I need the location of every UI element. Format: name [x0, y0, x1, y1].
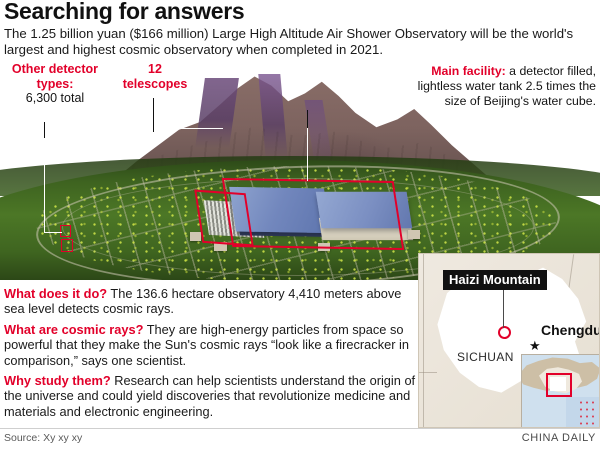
brand-credit: CHINA DAILY — [522, 432, 596, 444]
qa-block-1: What does it do? The 136.6 hectare obser… — [4, 286, 416, 317]
callout-other-detectors-label: Other detector types: — [12, 62, 98, 91]
infographic-page: Searching for answers The 1.25 billion y… — [0, 0, 600, 449]
leader-stub-detectors — [44, 122, 45, 138]
callout-telescopes-count: 12 — [148, 62, 162, 76]
source-credit: Source: Xy xy xy — [4, 432, 82, 444]
qa-question-2: What are cosmic rays? — [4, 322, 143, 337]
leader-line-telescopes-horizontal — [153, 128, 223, 129]
locator-dotted-line-icon — [578, 399, 598, 427]
qa-block-2: What are cosmic rays? They are high-ener… — [4, 322, 416, 368]
outbuilding-4 — [408, 230, 420, 239]
leader-stub-telescopes — [153, 98, 154, 132]
qa-question-1: What does it do? — [4, 286, 107, 301]
leader-line-detectors-horizontal — [44, 232, 62, 233]
china-locator-map — [521, 354, 600, 428]
callout-telescopes-label: telescopes — [108, 77, 202, 92]
star-marker-icon: ★ — [529, 339, 541, 352]
detector-highlight-box-top — [60, 225, 71, 237]
callout-telescopes: 12 telescopes — [108, 62, 202, 91]
province-border-1 — [423, 254, 424, 427]
footer-divider — [0, 428, 600, 429]
detector-highlight-box-bottom — [61, 239, 73, 252]
callout-other-detectors-value: 6,300 total — [6, 91, 104, 106]
outbuilding-1 — [190, 232, 201, 241]
province-border-3 — [419, 372, 437, 373]
callout-main-facility-label: Main facility: — [431, 64, 505, 78]
site-marker-icon — [498, 326, 511, 339]
leader-stub-main-facility — [307, 110, 308, 128]
callout-main-facility: Main facility: a detector filled, lightl… — [396, 64, 596, 109]
telescope-highlight-box — [194, 190, 253, 247]
qa-question-3: Why study them? — [4, 373, 111, 388]
page-title: Searching for answers — [4, 0, 244, 25]
location-map-inset: ★ Chengdu SICHUAN Haizi Mountain — [418, 253, 600, 428]
map-site-label: Haizi Mountain — [443, 270, 547, 290]
red-locator-box-icon — [546, 373, 572, 397]
callout-other-detectors: Other detector types: 6,300 total — [6, 62, 104, 106]
map-city-label: Chengdu — [541, 322, 600, 338]
map-province-label: SICHUAN — [457, 350, 514, 364]
map-leader-line — [503, 288, 504, 328]
standfirst-text: The 1.25 billion yuan ($166 million) Lar… — [4, 26, 596, 58]
qa-block-3: Why study them? Research can help scient… — [4, 373, 416, 419]
